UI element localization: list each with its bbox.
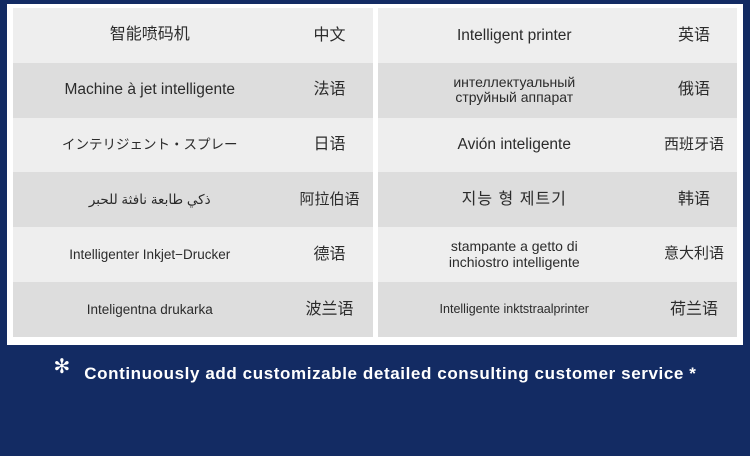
language-label-cell: 西班牙语 <box>651 137 737 154</box>
table-row: Machine à jet intelligente 法语 <box>13 63 373 118</box>
promo-banner-inner: ✻ Continuously add customizable detailed… <box>53 363 696 383</box>
language-label-cell: 日语 <box>287 136 373 154</box>
promo-banner-text: Continuously add customizable detailed c… <box>84 365 696 382</box>
table-row: Avión inteligente 西班牙语 <box>378 118 738 173</box>
table-row: 智能喷码机 中文 <box>13 8 373 63</box>
language-label-cell: 俄语 <box>651 81 737 99</box>
table-row: インテリジェント・スプレー 日语 <box>13 118 373 173</box>
table-row: ذكي طابعة نافثة للحبر 阿拉伯语 <box>13 172 373 227</box>
language-table-card: 智能喷码机 中文 Machine à jet intelligente 法语 イ… <box>7 4 743 345</box>
table-row: stampante a getto di inchiostro intellig… <box>378 227 738 282</box>
table-row: Intelligent printer 英语 <box>378 8 738 63</box>
table-row: Intelligenter Inkjet−Drucker 德语 <box>13 227 373 282</box>
language-label-cell: 法语 <box>287 81 373 99</box>
language-label-cell: 阿拉伯语 <box>287 192 373 209</box>
product-name-cell: Inteligentna drukarka <box>13 302 287 317</box>
product-name-cell: インテリジェント・スプレー <box>13 137 287 152</box>
language-label-cell: 韩语 <box>651 191 737 209</box>
language-table-right: Intelligent printer 英语 интеллектуальный … <box>378 8 738 337</box>
language-label-cell: 英语 <box>651 27 737 45</box>
language-table-left: 智能喷码机 中文 Machine à jet intelligente 法语 イ… <box>13 8 373 337</box>
language-label-cell: 中文 <box>287 27 373 45</box>
language-label-cell: 意大利语 <box>651 246 737 263</box>
promo-banner: ✻ Continuously add customizable detailed… <box>0 345 750 456</box>
language-label-cell: 荷兰语 <box>651 301 737 319</box>
language-label-cell: 德语 <box>287 246 373 264</box>
product-name-cell: Machine à jet intelligente <box>13 81 287 99</box>
product-name-cell: stampante a getto di inchiostro intellig… <box>378 239 652 270</box>
product-name-cell: 지능 형 제트기 <box>378 191 652 209</box>
product-name-cell: интеллектуальный струйный аппарат <box>378 75 652 106</box>
page-root: 智能喷码机 中文 Machine à jet intelligente 法语 イ… <box>0 0 750 456</box>
table-row: интеллектуальный струйный аппарат 俄语 <box>378 63 738 118</box>
product-name-cell: 智能喷码机 <box>13 26 287 44</box>
asterisk-icon: ✻ <box>53 357 70 377</box>
language-label-cell: 波兰语 <box>287 301 373 319</box>
product-name-cell: Avión inteligente <box>378 136 652 154</box>
product-name-cell: Intelligent printer <box>378 27 652 45</box>
product-name-cell: Intelligenter Inkjet−Drucker <box>13 247 287 262</box>
table-row: 지능 형 제트기 韩语 <box>378 172 738 227</box>
product-name-cell: Intelligente inktstraalprinter <box>378 302 652 316</box>
product-name-cell: ذكي طابعة نافثة للحبر <box>13 192 287 207</box>
table-row: Inteligentna drukarka 波兰语 <box>13 282 373 337</box>
table-row: Intelligente inktstraalprinter 荷兰语 <box>378 282 738 337</box>
